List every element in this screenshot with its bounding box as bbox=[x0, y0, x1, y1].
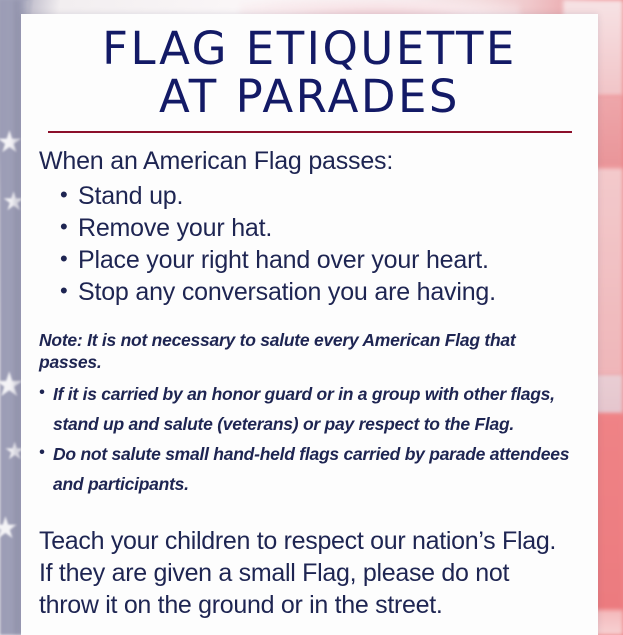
list-item: • If it is carried by an honor guard or … bbox=[39, 379, 582, 439]
bullet-icon: • bbox=[39, 378, 44, 408]
poster-card: FLAG ETIQUETTE AT PARADES When an Americ… bbox=[21, 14, 598, 635]
rules-list: • Stand up. • Remove your hat. • Place y… bbox=[39, 180, 582, 308]
note-list: • If it is carried by an honor guard or … bbox=[39, 379, 582, 499]
title-divider bbox=[48, 131, 572, 133]
rule-text: Stand up. bbox=[78, 182, 183, 210]
list-item: • Remove your hat. bbox=[60, 212, 582, 244]
title-line-1: FLAG ETIQUETTE bbox=[21, 25, 598, 73]
lead-text: When an American Flag passes: bbox=[39, 146, 582, 177]
bullet-icon: • bbox=[60, 275, 68, 307]
note-text-line-1: If it is carried by an honor guard or in… bbox=[53, 384, 555, 404]
closing-paragraph: Teach your children to respect our natio… bbox=[39, 525, 582, 621]
bullet-icon: • bbox=[60, 211, 68, 243]
list-item: • Do not salute small hand-held flags ca… bbox=[39, 439, 582, 499]
bullet-icon: • bbox=[60, 179, 68, 211]
poster-content: When an American Flag passes: • Stand up… bbox=[21, 146, 598, 621]
rule-text: Place your right hand over your heart. bbox=[78, 246, 489, 274]
list-item: • Place your right hand over your heart. bbox=[60, 244, 582, 276]
closing-line-3: throw it on the ground or in the street. bbox=[39, 589, 582, 621]
note-text-line-1: Do not salute small hand-held flags carr… bbox=[53, 444, 569, 464]
rule-text: Remove your hat. bbox=[78, 214, 272, 242]
poster-title: FLAG ETIQUETTE AT PARADES bbox=[21, 14, 598, 121]
flag-etiquette-poster: ★ ★ ★ ★ ★ FLAG ETIQUETTE AT PARADES When… bbox=[0, 0, 623, 635]
bullet-icon: • bbox=[60, 243, 68, 275]
closing-line-1: Teach your children to respect our natio… bbox=[39, 525, 582, 557]
note-intro: Note: It is not necessary to salute ever… bbox=[39, 329, 582, 373]
list-item: • Stop any conversation you are having. bbox=[60, 276, 582, 308]
rule-text: Stop any conversation you are having. bbox=[78, 278, 496, 306]
list-item: • Stand up. bbox=[60, 180, 582, 212]
note-text-line-2: and participants. bbox=[53, 469, 582, 499]
closing-line-2: If they are given a small Flag, please d… bbox=[39, 557, 582, 589]
note-text-line-2: stand up and salute (veterans) or pay re… bbox=[53, 409, 582, 439]
bullet-icon: • bbox=[39, 438, 44, 468]
title-line-2: AT PARADES bbox=[21, 73, 598, 121]
